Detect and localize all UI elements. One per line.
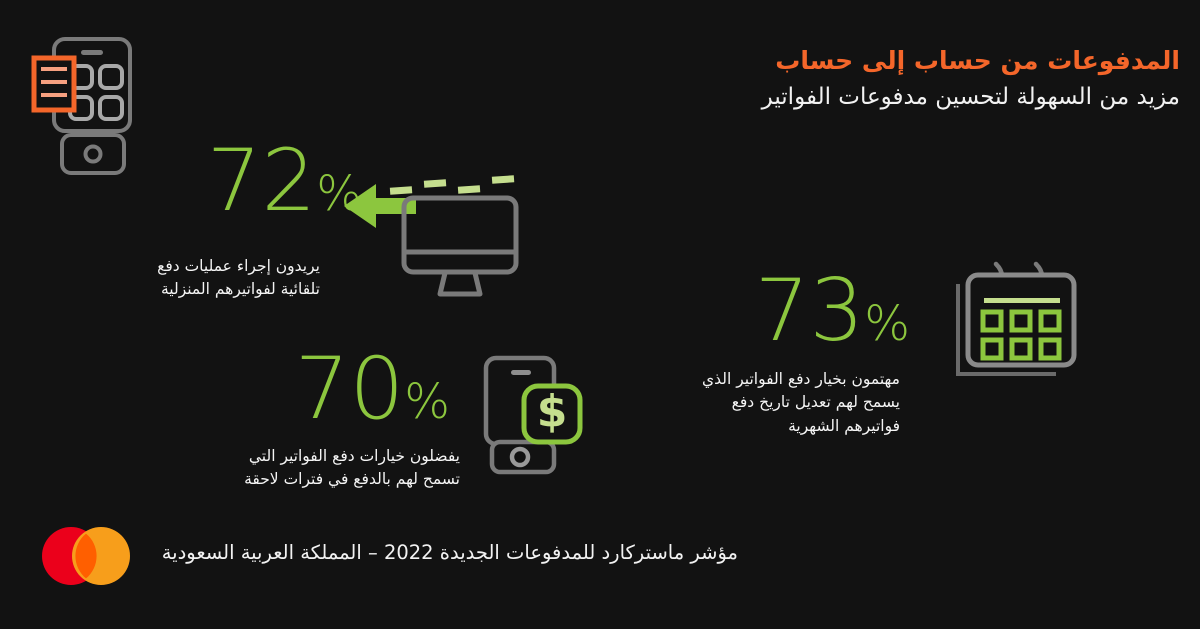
stat-73-caption-line-2: يسمح لهم تعديل تاريخ دفع xyxy=(614,391,900,414)
stat-73-number: 73 xyxy=(755,261,864,361)
stat-72-caption-line-1: يريدون إجراء عمليات دفع xyxy=(78,255,320,278)
stat-72-number: 72 xyxy=(207,131,316,231)
page-title: المدفوعات من حساب إلى حساب xyxy=(620,46,1180,76)
monitor-arrow-icon xyxy=(342,160,522,300)
phone-dollar-icon: $ xyxy=(480,354,592,476)
svg-text:$: $ xyxy=(537,386,568,437)
stat-73-caption: مهتمون بخيار دفع الفواتير الذي يسمح لهم … xyxy=(614,368,900,438)
phone-bill-icon xyxy=(24,36,142,178)
stat-70-caption-line-1: يفضلون خيارات دفع الفواتير التي xyxy=(160,445,460,468)
stat-72-value: 72% xyxy=(207,142,362,221)
header-block: المدفوعات من حساب إلى حساب مزيد من السهو… xyxy=(620,46,1180,112)
stat-73-caption-line-3: فواتيرهم الشهرية xyxy=(614,415,900,438)
stat-72-caption: يريدون إجراء عمليات دفع تلقائية لفواتيره… xyxy=(78,255,320,302)
stat-70-caption-line-2: تسمح لهم بالدفع في فترات لاحقة xyxy=(160,468,460,491)
stat-73-value: 73% xyxy=(755,272,910,351)
stat-70-percent-sign: % xyxy=(404,374,450,430)
stat-73-percent-sign: % xyxy=(864,296,910,352)
infographic-canvas: المدفوعات من حساب إلى حساب مزيد من السهو… xyxy=(0,0,1200,629)
stat-73-caption-line-1: مهتمون بخيار دفع الفواتير الذي xyxy=(614,368,900,391)
footer-source-text: مؤشر ماستركارد للمدفوعات الجديدة 2022 – … xyxy=(218,540,738,566)
stat-70-value: 70% xyxy=(295,350,450,429)
calendar-icon xyxy=(952,262,1082,384)
stat-70-number: 70 xyxy=(295,339,404,439)
stat-70-caption: يفضلون خيارات دفع الفواتير التي تسمح لهم… xyxy=(160,445,460,492)
page-subtitle: مزيد من السهولة لتحسين مدفوعات الفواتير xyxy=(620,83,1180,112)
mastercard-logo xyxy=(27,524,145,588)
stat-72-caption-line-2: تلقائية لفواتيرهم المنزلية xyxy=(78,278,320,301)
